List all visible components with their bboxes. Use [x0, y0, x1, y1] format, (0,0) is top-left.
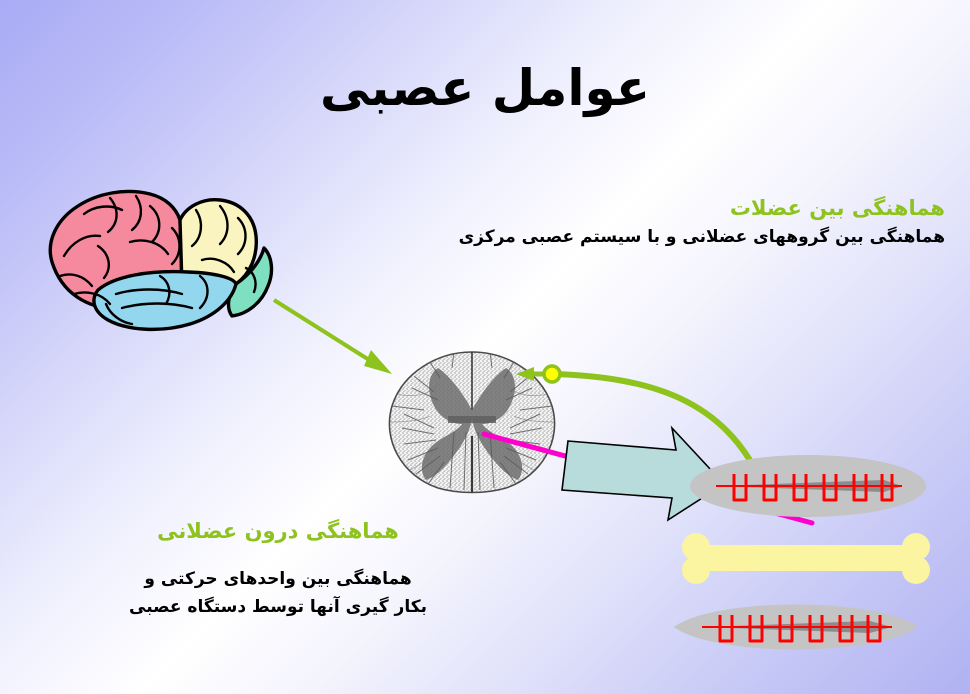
brain-lobe-temporal — [94, 272, 236, 330]
motor-unit-coils — [734, 474, 892, 500]
zoom-block-arrow — [562, 428, 724, 520]
green-arrow-node-to-cord — [516, 367, 548, 381]
synapse-node-icon — [544, 366, 560, 382]
bone-illustration — [672, 533, 940, 585]
green-nerve-path-to-muscle — [556, 374, 766, 492]
brain-illustration — [40, 176, 282, 336]
muscle-belly-outer — [690, 455, 926, 517]
intramuscular-body-line1: هماهنگی بین واحدهای حرکتی و — [88, 566, 468, 594]
brain-lobe-frontal — [50, 191, 182, 309]
motor-unit-coils — [720, 615, 880, 641]
brain-lobe-parietal — [180, 200, 256, 286]
green-arrow-brain-to-cord — [274, 300, 392, 374]
brain-lobe-occipital — [229, 248, 272, 316]
slide-canvas: عوامل عصبی — [0, 0, 970, 694]
intramuscular-body-line2: بکار گیری آنها توسط دستگاه عصبی — [88, 594, 468, 622]
intramuscular-heading: هماهنگی درون عضلانی — [88, 519, 468, 544]
cord-gray-matter-left — [422, 368, 472, 480]
intramuscular-coordination-block: هماهنگی درون عضلانی هماهنگی بین واحدهای … — [88, 519, 468, 621]
cord-gray-matter-right — [472, 368, 522, 480]
page-title: عوامل عصبی — [0, 62, 970, 115]
intermuscular-heading: هماهنگی بین عضلات — [455, 196, 945, 221]
intermuscular-coordination-block: هماهنگی بین عضلات هماهنگی بین گروههای عض… — [455, 196, 945, 251]
intermuscular-body: هماهنگی بین گروههای عضلانی و با سیستم عص… — [455, 225, 945, 251]
bone-shape — [682, 533, 930, 584]
muscle-belly-outer — [674, 605, 918, 650]
muscle-fiber-core — [702, 621, 892, 633]
cord-white-matter — [389, 352, 554, 493]
magenta-motor-nerve — [484, 434, 812, 523]
spinal-cord-cross-section — [382, 348, 562, 496]
muscle-fiber-core — [716, 480, 902, 492]
muscle-bottom-illustration — [672, 592, 920, 662]
muscle-top-illustration — [688, 450, 928, 522]
